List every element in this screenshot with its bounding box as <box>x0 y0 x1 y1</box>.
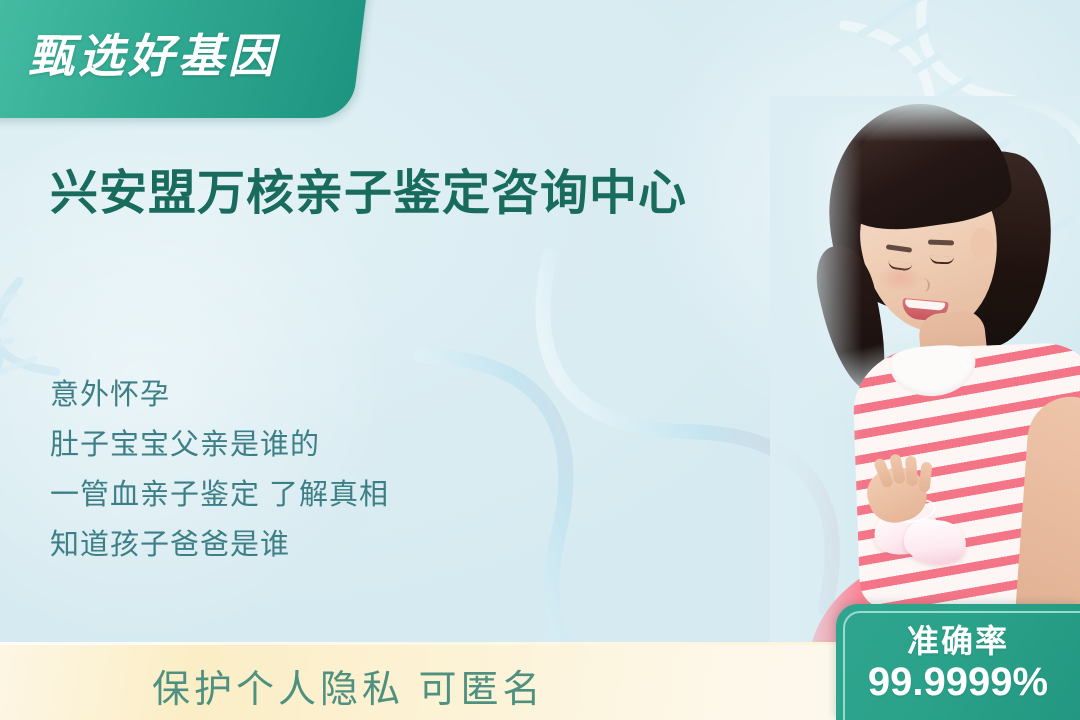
copy-line-4: 知道孩子爸爸是谁 <box>50 520 389 570</box>
copy-line-2: 肚子宝宝父亲是谁的 <box>50 420 389 470</box>
ear <box>970 228 994 260</box>
copy-block: 意外怀孕 肚子宝宝父亲是谁的 一管血亲子鉴定 了解真相 知道孩子爸爸是谁 <box>50 370 389 570</box>
accuracy-badge: 准确率 99.9999% <box>836 604 1080 720</box>
copy-line-1: 意外怀孕 <box>50 370 389 420</box>
copy-line-3: 一管血亲子鉴定 了解真相 <box>50 470 389 520</box>
finger-3 <box>905 456 918 487</box>
brand-logo-text: 甄选好基因 <box>28 20 328 86</box>
promo-banner: 甄选好基因 兴安盟万核亲子鉴定咨询中心 意外怀孕 肚子宝宝父亲是谁的 一管血亲子… <box>0 0 1080 720</box>
eyebrow-right <box>928 240 954 246</box>
page-title: 兴安盟万核亲子鉴定咨询中心 <box>50 153 687 223</box>
privacy-strip-text: 保护个人隐私 可匿名 <box>152 658 545 713</box>
photo-fade-top <box>770 96 1080 142</box>
accuracy-badge-title: 准确率 <box>836 616 1080 662</box>
accuracy-badge-value: 99.9999% <box>836 660 1080 705</box>
cheek-blush <box>878 264 922 292</box>
